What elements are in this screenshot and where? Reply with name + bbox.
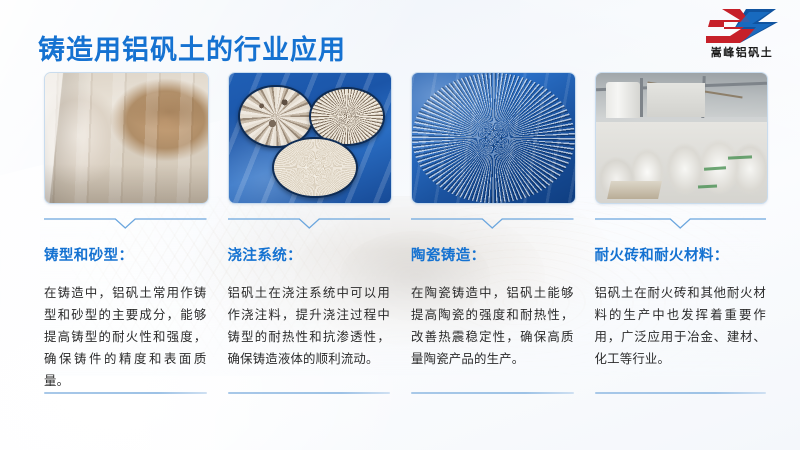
divider-with-notch-4 [595,216,766,230]
warehouse-storage-photo [595,72,768,204]
feature-heading-4: 耐火砖和耐火材料： [595,244,766,265]
feature-heading-3: 陶瓷铸造： [411,244,574,265]
feature-body-4: 铝矾土在耐火砖和其他耐火材料的生产中也发挥着重要作用，广泛应用于冶金、建材、化工… [595,282,766,370]
column-bottom-rule-4 [595,392,766,394]
divider-with-notch-1 [44,216,207,230]
feature-body-3: 在陶瓷铸造中，铝矾土能够提高陶瓷的强度和耐热性，改善热震稳定性，确保高质量陶瓷产… [411,282,574,370]
feature-body-1: 在铸造中，铝矾土常用作铸型和砂型的主要成分，能够提高铸型的耐火性和强度，确保铸件… [44,282,207,392]
feature-column-3: 陶瓷铸造： 在陶瓷铸造中，铝矾土能够提高陶瓷的强度和耐热性，改善热震稳定性，确保… [411,72,574,402]
feature-body-2: 铝矾土在浇注系统中可以用作浇注料，提升浇注过程中铸型的耐热性和抗渗透性，确保铸造… [228,282,391,370]
feature-heading-2: 浇注系统： [228,244,391,265]
column-bottom-rule-2 [228,392,391,394]
feature-heading-1: 铸型和砂型： [44,244,207,265]
divider-with-notch-3 [411,216,574,230]
column-bottom-rule-3 [411,392,574,394]
bulk-bags-of-bauxite-photo [44,72,209,204]
bauxite-grades-dishes-photo [228,72,393,204]
page-title: 铸造用铝矾土的行业应用 [38,28,346,67]
sungfeng-s-logo-mark [700,6,784,46]
feature-column-4: 耐火砖和耐火材料： 铝矾土在耐火砖和其他耐火材料的生产中也发挥着重要作用，广泛应… [595,72,766,402]
dish-sand [272,137,357,198]
bauxite-powder-dishes-photo [411,72,576,204]
slide-canvas: 铸造用铝矾土的行业应用 嵩峰铝矾土 铸型和砂型： 在铸造中，铝矾土常用作铸型和砂… [0,0,800,450]
feature-columns: 铸型和砂型： 在铸造中，铝矾土常用作铸型和砂型的主要成分，能够提高铸型的耐火性和… [44,72,766,402]
column-bottom-rule-1 [44,392,207,394]
company-logo[interactable]: 嵩峰铝矾土 [700,6,784,64]
divider-with-notch-2 [228,216,391,230]
feature-column-1: 铸型和砂型： 在铸造中，铝矾土常用作铸型和砂型的主要成分，能够提高铸型的耐火性和… [44,72,207,402]
company-brand-name: 嵩峰铝矾土 [700,47,784,59]
feature-column-2: 浇注系统： 铝矾土在浇注系统中可以用作浇注料，提升浇注过程中铸型的耐热性和抗渗透… [228,72,391,402]
